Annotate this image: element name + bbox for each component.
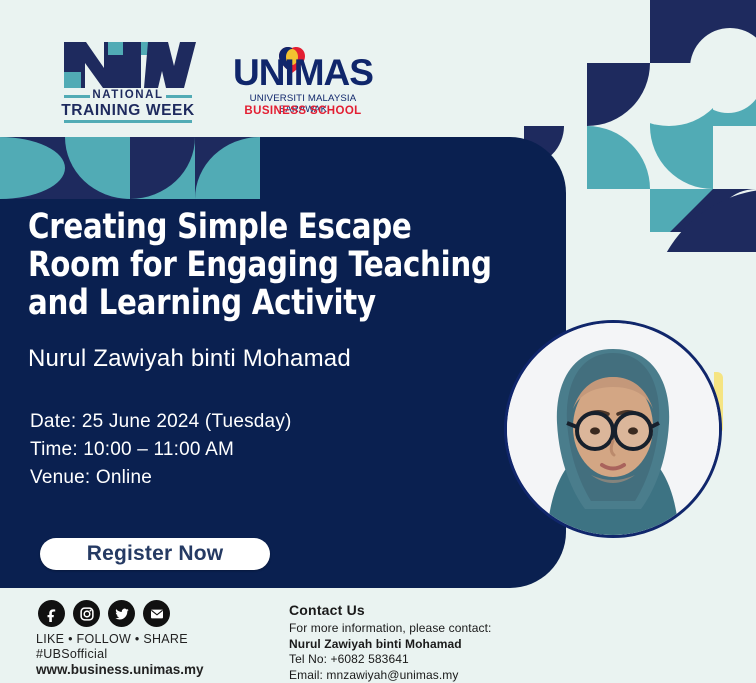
social-tagline: LIKE • FOLLOW • SHARE [36,632,204,647]
unimas-wordmark: UNIMAS [228,54,378,92]
contact-tel: Tel No: +6082 583641 [289,652,491,668]
event-poster: NATIONAL TRAINING WEEK UNIMAS UNIVERSITI… [0,0,756,680]
event-date: Date: 25 June 2024 (Tuesday) [30,408,292,436]
ntw-logo-line1: NATIONAL [60,89,196,101]
twitter-icon[interactable] [108,600,135,627]
portrait-ring [504,320,722,538]
instagram-icon[interactable] [73,600,100,627]
contact-intro: For more information, please contact: [289,621,491,637]
social-hashtag: #UBSofficial [36,647,204,662]
contact-block: Contact Us For more information, please … [289,602,491,683]
register-button[interactable]: Register Now [40,538,270,570]
social-links [38,600,170,627]
event-venue: Venue: Online [30,464,292,492]
page-title: Creating Simple Escape Room for Engaging… [28,208,504,322]
speaker-portrait [504,320,722,538]
pattern-block-navy-3 [650,189,756,252]
pattern-circle-cut [650,0,756,63]
social-tagline-block: LIKE • FOLLOW • SHARE #UBSofficial www.b… [36,632,204,677]
ntw-logo-line2: TRAINING WEEK [60,102,196,120]
unimas-logo-line2: BUSINESS SCHOOL [228,105,378,117]
website-url[interactable]: www.business.unimas.my [36,662,204,677]
panel-strip-corner [0,137,65,199]
unimas-business-school-logo: UNIMAS UNIVERSITI MALAYSIA SARAWAK BUSIN… [228,46,378,120]
pattern-block-teal-2 [713,63,756,126]
speaker-name: Nurul Zawiyah binti Mohamad [28,345,351,373]
portrait-photo [507,323,719,535]
pattern-block-navy-2 [650,126,713,189]
event-details: Date: 25 June 2024 (Tuesday) Time: 10:00… [30,408,292,492]
contact-email[interactable]: Email: mnzawiyah@unimas.my [289,668,491,683]
email-icon[interactable] [143,600,170,627]
event-time: Time: 10:00 – 11:00 AM [30,436,292,464]
facebook-icon[interactable] [38,600,65,627]
contact-heading: Contact Us [289,602,491,618]
contact-person: Nurul Zawiyah binti Mohamad [289,637,491,653]
national-training-week-logo: NATIONAL TRAINING WEEK [60,32,196,124]
